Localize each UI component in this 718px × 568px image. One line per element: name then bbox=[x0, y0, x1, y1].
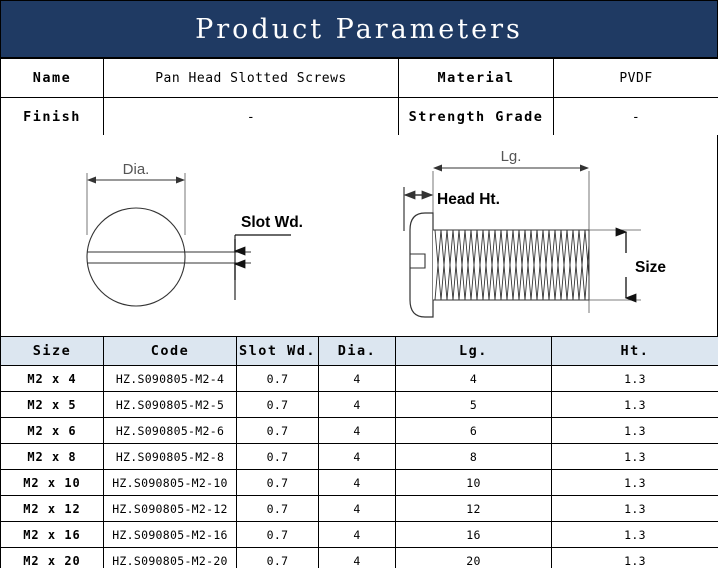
product-info-table: Name Pan Head Slotted Screws Material PV… bbox=[0, 58, 718, 137]
cell-size: M2 x 4 bbox=[1, 366, 104, 392]
cell-dia: 4 bbox=[319, 548, 396, 568]
table-row: M2 x 12 HZ.S090805-M2-12 0.7 4 12 1.3 bbox=[1, 496, 718, 522]
info-value-strength-grade: - bbox=[554, 98, 718, 137]
length-label: Lg. bbox=[501, 148, 522, 165]
cell-dia: 4 bbox=[319, 392, 396, 418]
table-row: M2 x 10 HZ.S090805-M2-10 0.7 4 10 1.3 bbox=[1, 470, 718, 496]
table-row: Name Pan Head Slotted Screws Material PV… bbox=[1, 59, 718, 98]
cell-slot-wd: 0.7 bbox=[237, 496, 319, 522]
table-row: M2 x 20 HZ.S090805-M2-20 0.7 4 20 1.3 bbox=[1, 548, 718, 568]
cell-dia: 4 bbox=[319, 418, 396, 444]
info-value-material: PVDF bbox=[554, 59, 718, 98]
cell-size: M2 x 10 bbox=[1, 470, 104, 496]
cell-slot-wd: 0.7 bbox=[237, 470, 319, 496]
cell-dia: 4 bbox=[319, 366, 396, 392]
screw-head-circle bbox=[87, 208, 185, 306]
screw-drawing-svg: Dia. Slot Wd. bbox=[1, 135, 717, 335]
column-header-size: Size bbox=[1, 337, 104, 366]
cell-slot-wd: 0.7 bbox=[237, 392, 319, 418]
cell-slot-wd: 0.7 bbox=[237, 418, 319, 444]
column-header-slot-wd: Slot Wd. bbox=[237, 337, 319, 366]
cell-code: HZ.S090805-M2-5 bbox=[104, 392, 237, 418]
info-value-finish: - bbox=[104, 98, 399, 137]
cell-ht: 1.3 bbox=[552, 366, 718, 392]
table-row: M2 x 5 HZ.S090805-M2-5 0.7 4 5 1.3 bbox=[1, 392, 718, 418]
cell-code: HZ.S090805-M2-12 bbox=[104, 496, 237, 522]
cell-slot-wd: 0.7 bbox=[237, 522, 319, 548]
column-header-dia: Dia. bbox=[319, 337, 396, 366]
cell-lg: 10 bbox=[396, 470, 552, 496]
cell-code: HZ.S090805-M2-10 bbox=[104, 470, 237, 496]
size-dimension: Size bbox=[589, 230, 666, 300]
screw-head-top-view: Dia. Slot Wd. bbox=[87, 161, 303, 306]
dia-dimension: Dia. bbox=[87, 161, 185, 235]
cell-code: HZ.S090805-M2-8 bbox=[104, 444, 237, 470]
page-title: Product Parameters bbox=[1, 1, 717, 57]
cell-lg: 8 bbox=[396, 444, 552, 470]
cell-size: M2 x 12 bbox=[1, 496, 104, 522]
cell-slot-wd: 0.7 bbox=[237, 366, 319, 392]
cell-size: M2 x 16 bbox=[1, 522, 104, 548]
info-value-name: Pan Head Slotted Screws bbox=[104, 59, 399, 98]
screw-head-shape bbox=[410, 213, 433, 317]
table-row: M2 x 16 HZ.S090805-M2-16 0.7 4 16 1.3 bbox=[1, 522, 718, 548]
info-label-finish: Finish bbox=[1, 98, 104, 137]
cell-lg: 16 bbox=[396, 522, 552, 548]
cell-lg: 4 bbox=[396, 366, 552, 392]
spec-table-header-row: Size Code Slot Wd. Dia. Lg. Ht. bbox=[1, 337, 718, 366]
dia-label: Dia. bbox=[123, 161, 150, 178]
cell-lg: 12 bbox=[396, 496, 552, 522]
cell-ht: 1.3 bbox=[552, 548, 718, 568]
slot-width-callout: Slot Wd. bbox=[235, 214, 303, 300]
cell-dia: 4 bbox=[319, 522, 396, 548]
table-row: M2 x 8 HZ.S090805-M2-8 0.7 4 8 1.3 bbox=[1, 444, 718, 470]
cell-ht: 1.3 bbox=[552, 470, 718, 496]
table-row: M2 x 4 HZ.S090805-M2-4 0.7 4 4 1.3 bbox=[1, 366, 718, 392]
cell-ht: 1.3 bbox=[552, 522, 718, 548]
cell-slot-wd: 0.7 bbox=[237, 548, 319, 568]
cell-code: HZ.S090805-M2-4 bbox=[104, 366, 237, 392]
size-label: Size bbox=[635, 259, 666, 276]
specification-table: Size Code Slot Wd. Dia. Lg. Ht. M2 x 4 H… bbox=[0, 336, 718, 568]
cell-ht: 1.3 bbox=[552, 496, 718, 522]
cell-size: M2 x 20 bbox=[1, 548, 104, 568]
cell-size: M2 x 5 bbox=[1, 392, 104, 418]
cell-dia: 4 bbox=[319, 444, 396, 470]
cell-code: HZ.S090805-M2-6 bbox=[104, 418, 237, 444]
table-row: M2 x 6 HZ.S090805-M2-6 0.7 4 6 1.3 bbox=[1, 418, 718, 444]
cell-dia: 4 bbox=[319, 470, 396, 496]
table-row: Finish - Strength Grade - bbox=[1, 98, 718, 137]
column-header-lg: Lg. bbox=[396, 337, 552, 366]
cell-lg: 20 bbox=[396, 548, 552, 568]
cell-ht: 1.3 bbox=[552, 392, 718, 418]
column-header-ht: Ht. bbox=[552, 337, 718, 366]
cell-lg: 6 bbox=[396, 418, 552, 444]
technical-drawing-area: Dia. Slot Wd. bbox=[0, 135, 718, 337]
cell-lg: 5 bbox=[396, 392, 552, 418]
head-height-label: Head Ht. bbox=[437, 191, 500, 208]
screw-side-view: Lg. Head Ht. bbox=[404, 148, 666, 317]
product-parameters-page: Product Parameters Name Pan Head Slotted… bbox=[0, 0, 718, 568]
cell-slot-wd: 0.7 bbox=[237, 444, 319, 470]
cell-size: M2 x 6 bbox=[1, 418, 104, 444]
info-label-name: Name bbox=[1, 59, 104, 98]
slot-width-label: Slot Wd. bbox=[241, 214, 303, 231]
info-label-strength-grade: Strength Grade bbox=[399, 98, 554, 137]
cell-ht: 1.3 bbox=[552, 444, 718, 470]
cell-ht: 1.3 bbox=[552, 418, 718, 444]
cell-size: M2 x 8 bbox=[1, 444, 104, 470]
cell-dia: 4 bbox=[319, 496, 396, 522]
page-title-bar: Product Parameters bbox=[0, 0, 718, 58]
column-header-code: Code bbox=[104, 337, 237, 366]
cell-code: HZ.S090805-M2-20 bbox=[104, 548, 237, 568]
info-label-material: Material bbox=[399, 59, 554, 98]
cell-code: HZ.S090805-M2-16 bbox=[104, 522, 237, 548]
